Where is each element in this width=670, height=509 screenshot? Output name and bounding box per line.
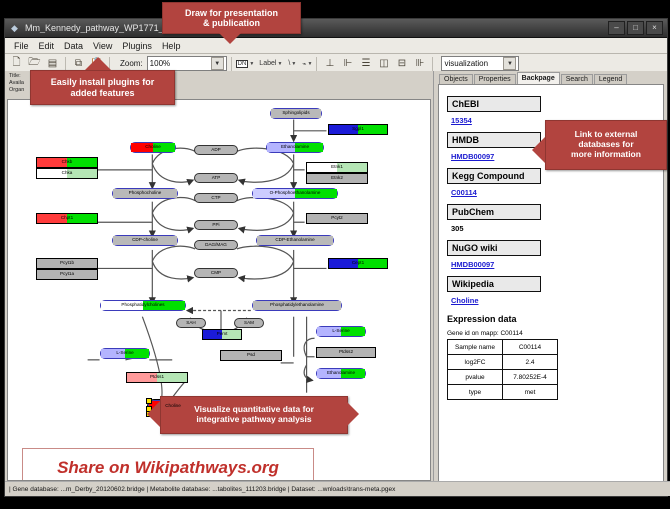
status-bar: | Gene database: ...m_Derby_20120602.bri… (5, 481, 670, 496)
callout-visualize-arrow (147, 401, 160, 427)
maximize-button[interactable]: □ (627, 21, 644, 35)
gene-node[interactable]: Ptdss1 (126, 372, 188, 383)
metabolite-node-label: Phosphocholine (129, 191, 162, 196)
gene-node[interactable]: Chkb (36, 157, 98, 168)
minimize-button[interactable]: – (608, 21, 625, 35)
callout-draw: Draw for presentation & publication (162, 2, 301, 34)
metabolite-node[interactable]: Choline (130, 142, 176, 153)
gene-node-label: Etnk2 (331, 176, 343, 181)
metabolite-node[interactable]: Sphingolipids (270, 108, 322, 119)
window-controls: – □ × (608, 21, 663, 35)
expression-row-value: met (503, 385, 558, 400)
zoom-combobox[interactable]: 100% ▼ (147, 56, 227, 71)
database-value-wikipedia[interactable]: Choline (451, 296, 663, 305)
metabolite-node-label: Choline (145, 145, 161, 150)
expression-row-value: 2.4 (503, 355, 558, 370)
gene-node[interactable]: Cept1 (328, 258, 388, 269)
table-row: typemet (448, 385, 558, 400)
cofactor-node[interactable]: CMP (194, 268, 238, 278)
chevron-down-icon[interactable]: ▼ (503, 57, 516, 70)
gene-node[interactable]: Ptdss2 (316, 347, 376, 358)
side-tabs: Objects Properties Backpage Search Legen… (434, 71, 667, 84)
align-center-icon[interactable]: ⊥ (321, 56, 338, 72)
cofactor-node[interactable]: SAH (176, 318, 206, 328)
metabolite-node[interactable]: CDP-choline (112, 235, 178, 246)
visualization-combobox[interactable]: visualization ▼ (441, 56, 519, 71)
gene-node[interactable]: Pcyt2 (306, 213, 368, 224)
gene-node-label: Etnk1 (331, 165, 343, 170)
share-banner-text: Share on Wikipathways.org (57, 458, 279, 478)
toolbar-separator-3 (231, 57, 232, 71)
tab-backpage[interactable]: Backpage (517, 72, 560, 84)
gene-node[interactable]: Sgpl1 (328, 124, 388, 135)
gene-node[interactable]: Etnk2 (306, 173, 368, 184)
same-width-icon[interactable]: ⊟ (393, 56, 410, 72)
cofactor-node-label: CTP (211, 196, 220, 201)
datanode-tool[interactable]: DN ▼ (236, 60, 255, 68)
cofactor-node-label: SAH (186, 321, 195, 326)
metabolite-node-label: Choline (165, 404, 181, 409)
menu-item-edit[interactable]: Edit (34, 40, 60, 52)
shape-tool[interactable]: ⌁ ▼ (302, 60, 312, 68)
menu-item-view[interactable]: View (88, 40, 117, 52)
metabolite-node[interactable]: Phosphocholine (112, 188, 178, 199)
database-value-nugo-wiki[interactable]: HMDB00097 (451, 260, 663, 269)
menu-item-file[interactable]: File (9, 40, 34, 52)
gene-node-label: Pemt (217, 332, 228, 337)
zoom-label: Zoom: (120, 59, 143, 68)
database-label-pubchem: PubChem (447, 204, 541, 220)
gene-node-label: Pcyt2 (331, 216, 343, 221)
menu-item-help[interactable]: Help (157, 40, 186, 52)
table-row: Sample nameC00114 (448, 340, 558, 355)
gene-node[interactable]: Pemt (202, 329, 242, 340)
metabolite-node-label: CDP-Ethanolamine (275, 238, 314, 243)
cofactor-node-label: ADP (211, 148, 220, 153)
menu-item-data[interactable]: Data (59, 40, 88, 52)
new-file-icon[interactable]: 🗋 (8, 56, 25, 72)
cofactor-node-label: CMP (211, 271, 221, 276)
visualization-value: visualization (444, 59, 503, 68)
database-label-nugo-wiki: NuGO wiki (447, 240, 541, 256)
callout-visualize-arrow-right (346, 401, 359, 427)
pathway-canvas[interactable]: CholinePhosphocholineCDP-cholinePhosphat… (7, 99, 431, 481)
cofactor-node-label: PPi (212, 223, 219, 228)
metabolite-node-label: Ethanolamine (327, 371, 355, 376)
database-value-pubchem: 305 (451, 224, 663, 233)
expression-row-label: type (448, 385, 503, 400)
metabolite-node-label: O-Phosphoethanolamine (270, 191, 321, 196)
screenshot-root: ◆ Mm_Kennedy_pathway_WP1771_45176.gpml –… (0, 0, 670, 509)
gene-node-label: Ptdss2 (339, 350, 353, 355)
gene-node-label: Pcyt1b (60, 261, 74, 266)
gene-id-line: Gene id on mapp: C00114 (447, 330, 663, 337)
table-row: pvalue7.80252E-4 (448, 370, 558, 385)
gene-node-label: Cept1 (352, 261, 364, 266)
expression-row-label: log2FC (448, 355, 503, 370)
menu-item-plugins[interactable]: Plugins (117, 40, 157, 52)
callout-plugins: Easily install plugins for added feature… (30, 70, 175, 105)
expression-row-label: pvalue (448, 370, 503, 385)
tab-properties[interactable]: Properties (474, 74, 516, 84)
gene-node-label: Psd (247, 353, 255, 358)
expression-data-heading: Expression data (447, 314, 663, 324)
align-left-icon[interactable]: ⊩ (339, 56, 356, 72)
distribute-h-icon[interactable]: ◫ (375, 56, 392, 72)
metabolite-node-label: L-Serine (116, 351, 133, 356)
menu-bar: File Edit Data View Plugins Help (5, 38, 667, 54)
expression-row-label: Sample name (448, 340, 503, 355)
close-button[interactable]: × (646, 21, 663, 35)
metabolite-node[interactable]: O-Phosphoethanolamine (252, 188, 338, 199)
cofactor-node[interactable]: ATP (194, 173, 238, 183)
cofactor-node-label: DAG/MAG (205, 243, 227, 248)
metabolite-node[interactable]: L-Serine (316, 326, 366, 337)
pathway-editor-pane: Title: Availa Organ (5, 71, 434, 496)
line-tool[interactable]: \ ▼ (288, 60, 296, 67)
cofactor-node[interactable]: ADP (194, 145, 238, 155)
chevron-down-icon[interactable]: ▼ (249, 61, 254, 67)
metabolite-node-label: CDP-choline (132, 238, 158, 243)
app-icon: ◆ (9, 23, 20, 34)
label-tool[interactable]: Label ▼ (259, 60, 282, 67)
metabolite-node[interactable]: Phosphatidylethanolamine (252, 300, 342, 311)
node-fill-right (251, 351, 281, 360)
metabolite-node[interactable]: Ethanolamine (266, 142, 324, 153)
metabolite-node-label: Ethanolamine (281, 145, 309, 150)
cofactor-node[interactable]: PPi (194, 220, 238, 230)
metabolite-node-label: Phosphatidylethanolamine (270, 303, 324, 308)
toolbar-separator-5 (432, 57, 433, 71)
label-tool-label: Label (259, 60, 276, 67)
callout-link-arrow (532, 137, 545, 163)
metabolite-node[interactable]: Phosphatidylcholines (100, 300, 186, 311)
datanode-icon: DN (236, 60, 249, 68)
gene-node[interactable]: Etnk1 (306, 162, 368, 173)
toolbar-separator-1 (65, 57, 66, 71)
metabolite-node[interactable]: L-Serine (100, 348, 150, 359)
gene-node-label: Sgpl1 (352, 127, 364, 132)
distribute-v-icon[interactable]: ☰ (357, 56, 374, 72)
gene-node[interactable]: Pcyt1b (36, 258, 98, 269)
tab-objects[interactable]: Objects (439, 74, 473, 84)
gene-node-label: Pcyt1a (60, 272, 74, 277)
callout-plugins-arrow (85, 57, 111, 70)
cofactor-node[interactable]: CTP (194, 193, 238, 203)
table-row: log2FC2.4 (448, 355, 558, 370)
database-label-wikipedia: Wikipedia (447, 276, 541, 292)
metabolite-node[interactable]: Ethanolamine (316, 368, 366, 379)
metabolite-node-label: Phosphatidylcholines (121, 303, 164, 308)
toolbar-separator-4 (316, 57, 317, 71)
tab-search[interactable]: Search (561, 74, 593, 84)
database-label-hmdb: HMDB (447, 132, 541, 148)
gene-node-label: Chka (62, 171, 73, 176)
gene-node-label: Chpt1 (61, 216, 73, 221)
chevron-down-icon[interactable]: ▼ (211, 57, 224, 70)
database-value-kegg-compound[interactable]: C00114 (451, 188, 663, 197)
callout-draw-arrow (217, 31, 243, 44)
line-icon: \ (288, 60, 290, 67)
metabolite-node-label: Sphingolipids (282, 111, 309, 116)
title-bar: ◆ Mm_Kennedy_pathway_WP1771_45176.gpml –… (5, 19, 667, 38)
gene-node[interactable]: Psd (220, 350, 282, 361)
metabolite-node[interactable]: CDP-Ethanolamine (256, 235, 334, 246)
callout-visualize: Visualize quantitative data for integrat… (160, 396, 348, 434)
chevron-down-icon[interactable]: ▼ (308, 61, 313, 67)
callout-link: Link to external databases for more info… (545, 120, 667, 170)
shape-icon: ⌁ (302, 60, 306, 68)
gene-node-label: Ptdss1 (150, 375, 164, 380)
chevron-down-icon[interactable]: ▼ (291, 61, 296, 67)
expression-row-value: C00114 (503, 340, 558, 355)
metabolite-node-label: L-Serine (332, 329, 349, 334)
gene-node[interactable]: Chka (36, 168, 98, 179)
cofactor-node-label: SAM (244, 321, 254, 326)
database-label-chebi: ChEBI (447, 96, 541, 112)
tab-legend[interactable]: Legend (594, 74, 627, 84)
gene-node[interactable]: Pcyt1a (36, 269, 98, 280)
cofactor-node-label: ATP (212, 176, 221, 181)
expression-table: Sample nameC00114log2FC2.4pvalue7.80252E… (447, 339, 558, 400)
gene-node-label: Chkb (62, 160, 73, 165)
status-bar-text: | Gene database: ...m_Derby_20120602.bri… (9, 486, 395, 493)
cofactor-node[interactable]: SAM (234, 318, 264, 328)
zoom-value: 100% (150, 59, 211, 68)
gene-node[interactable]: Chpt1 (36, 213, 98, 224)
share-banner: Share on Wikipathways.org (22, 448, 314, 481)
expression-row-value: 7.80252E-4 (503, 370, 558, 385)
stack-icon[interactable]: ⊪ (411, 56, 428, 72)
chevron-down-icon[interactable]: ▼ (277, 61, 282, 67)
database-label-kegg-compound: Kegg Compound (447, 168, 541, 184)
cofactor-node[interactable]: DAG/MAG (194, 240, 238, 250)
